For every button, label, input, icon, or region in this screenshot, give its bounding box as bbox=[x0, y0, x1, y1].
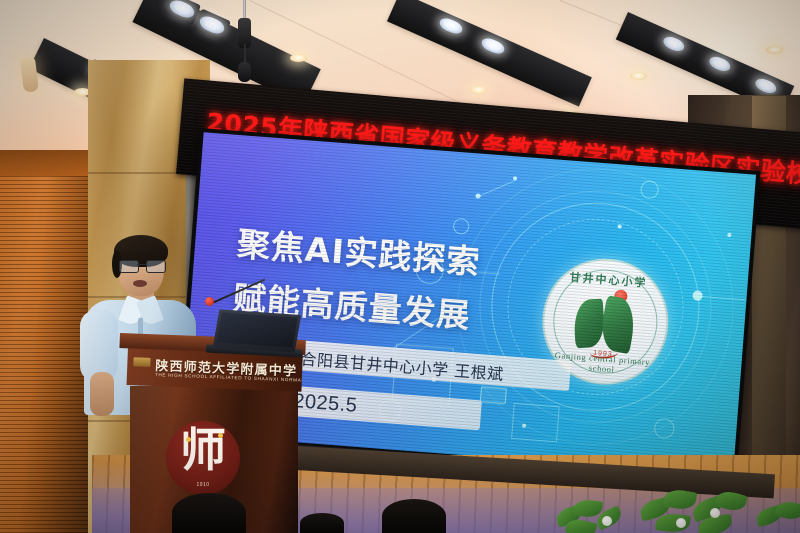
hanging-microphone bbox=[238, 62, 251, 82]
glasses-bridge bbox=[137, 264, 146, 265]
audience-head-silhouette bbox=[300, 513, 344, 533]
screenshot-root: 2025年陕西省国家级义务教育教学改革实验区实验校工作推进会 bbox=[0, 0, 800, 533]
emblem-year-text: 1910 bbox=[166, 482, 240, 488]
plant-flower bbox=[710, 508, 720, 518]
plant-flower bbox=[676, 518, 686, 528]
stage-plant bbox=[556, 494, 636, 533]
plant-flower bbox=[602, 516, 612, 526]
emblem-dot-icon bbox=[218, 433, 223, 438]
podium-microphone-head-icon bbox=[205, 297, 214, 306]
stage-plant bbox=[756, 500, 800, 533]
speaker-mouth bbox=[133, 280, 147, 287]
speaker-glasses-icon bbox=[119, 260, 164, 271]
left-wall-top-trim bbox=[0, 150, 92, 176]
ceiling-downlight bbox=[630, 72, 647, 80]
laptop-screen bbox=[217, 313, 298, 348]
emblem-character-icon: 师 bbox=[166, 427, 240, 473]
presenter-laptop bbox=[213, 309, 301, 352]
ceiling-downlight bbox=[766, 46, 783, 54]
ceiling-downlight bbox=[470, 86, 487, 94]
stage-plant bbox=[640, 488, 750, 533]
podium-school-emblem: 师 1910 bbox=[166, 421, 240, 495]
audience-head-silhouette bbox=[382, 499, 446, 533]
emblem-dot-icon bbox=[186, 437, 191, 442]
glasses-lens-left bbox=[119, 260, 139, 273]
ceiling-downlight bbox=[290, 54, 307, 62]
podium-brass-plate bbox=[133, 357, 150, 367]
audience-head-silhouette bbox=[172, 493, 246, 533]
glasses-lens-right bbox=[146, 260, 166, 273]
